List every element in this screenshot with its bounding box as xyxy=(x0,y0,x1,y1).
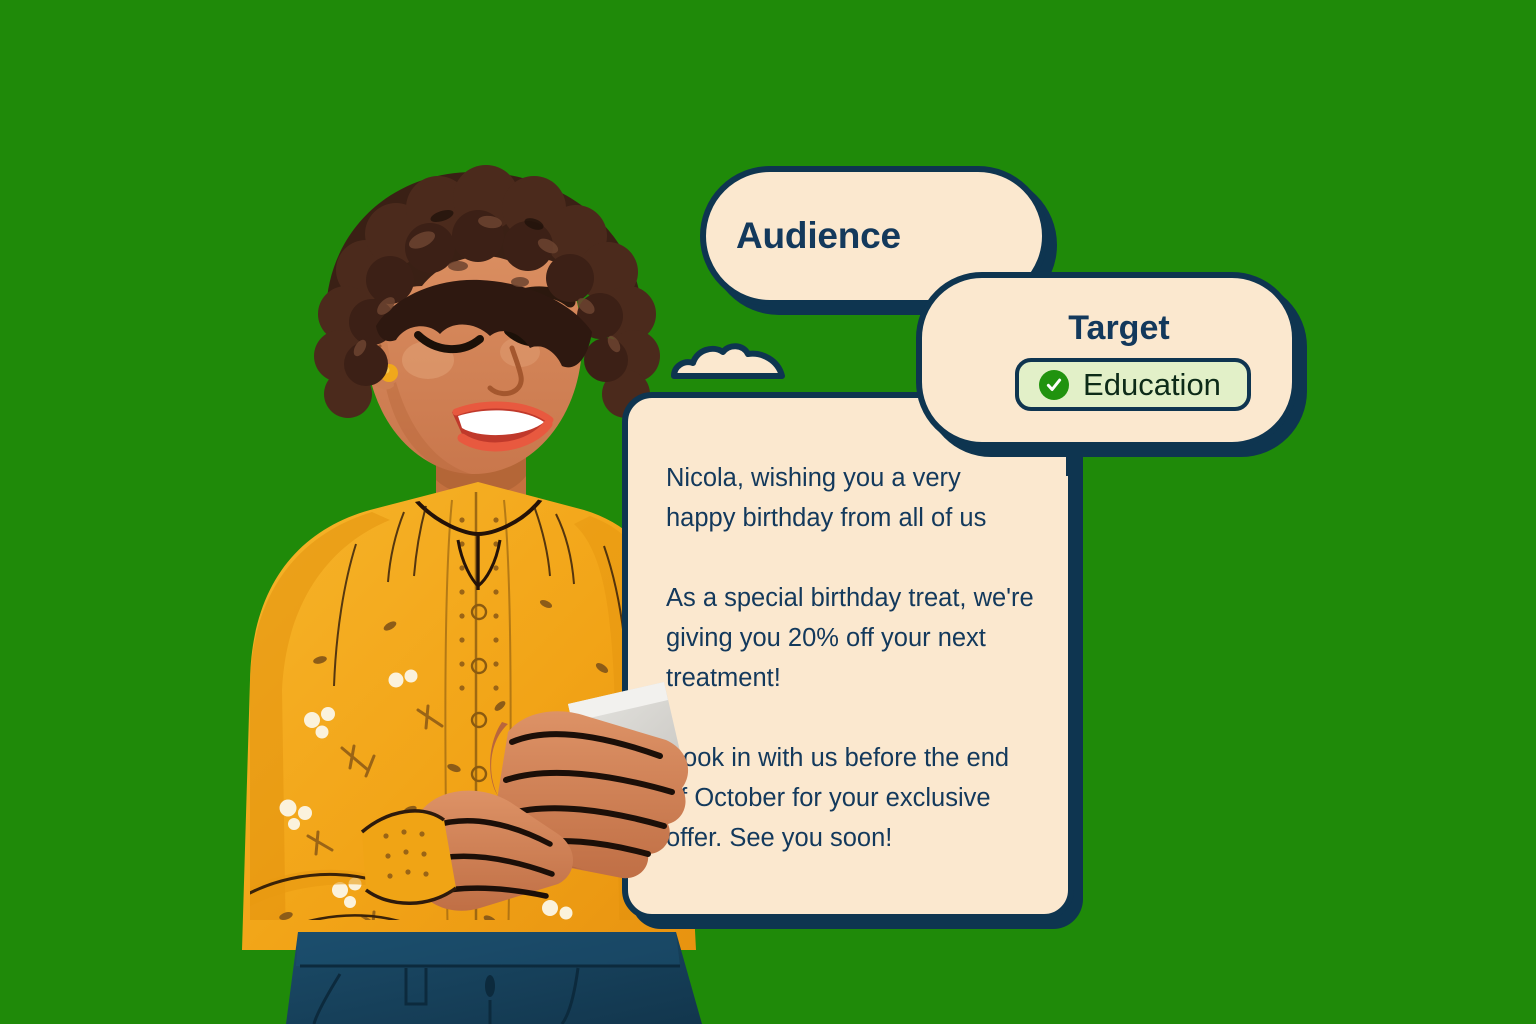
target-education-badge[interactable]: Education xyxy=(1015,358,1251,411)
cloud-icon xyxy=(666,338,790,382)
target-card[interactable]: Target Education xyxy=(916,272,1298,448)
message-card: Nicola, wishing you a very happy birthda… xyxy=(622,392,1074,920)
audience-card-title: Audience xyxy=(736,215,901,257)
message-paragraph-3: Book in with us before the end of Octobe… xyxy=(666,738,1036,858)
message-paragraph-1: Nicola, wishing you a very happy birthda… xyxy=(666,458,1036,538)
jeans xyxy=(286,932,702,1024)
message-paragraph-2: As a special birthday treat, we're givin… xyxy=(666,578,1036,698)
check-circle-icon xyxy=(1039,370,1069,400)
target-badge-label: Education xyxy=(1083,369,1221,400)
illustration-canvas: Audience Nicola, wishing you a very happ… xyxy=(0,0,1536,1024)
target-card-title: Target xyxy=(1068,309,1169,348)
